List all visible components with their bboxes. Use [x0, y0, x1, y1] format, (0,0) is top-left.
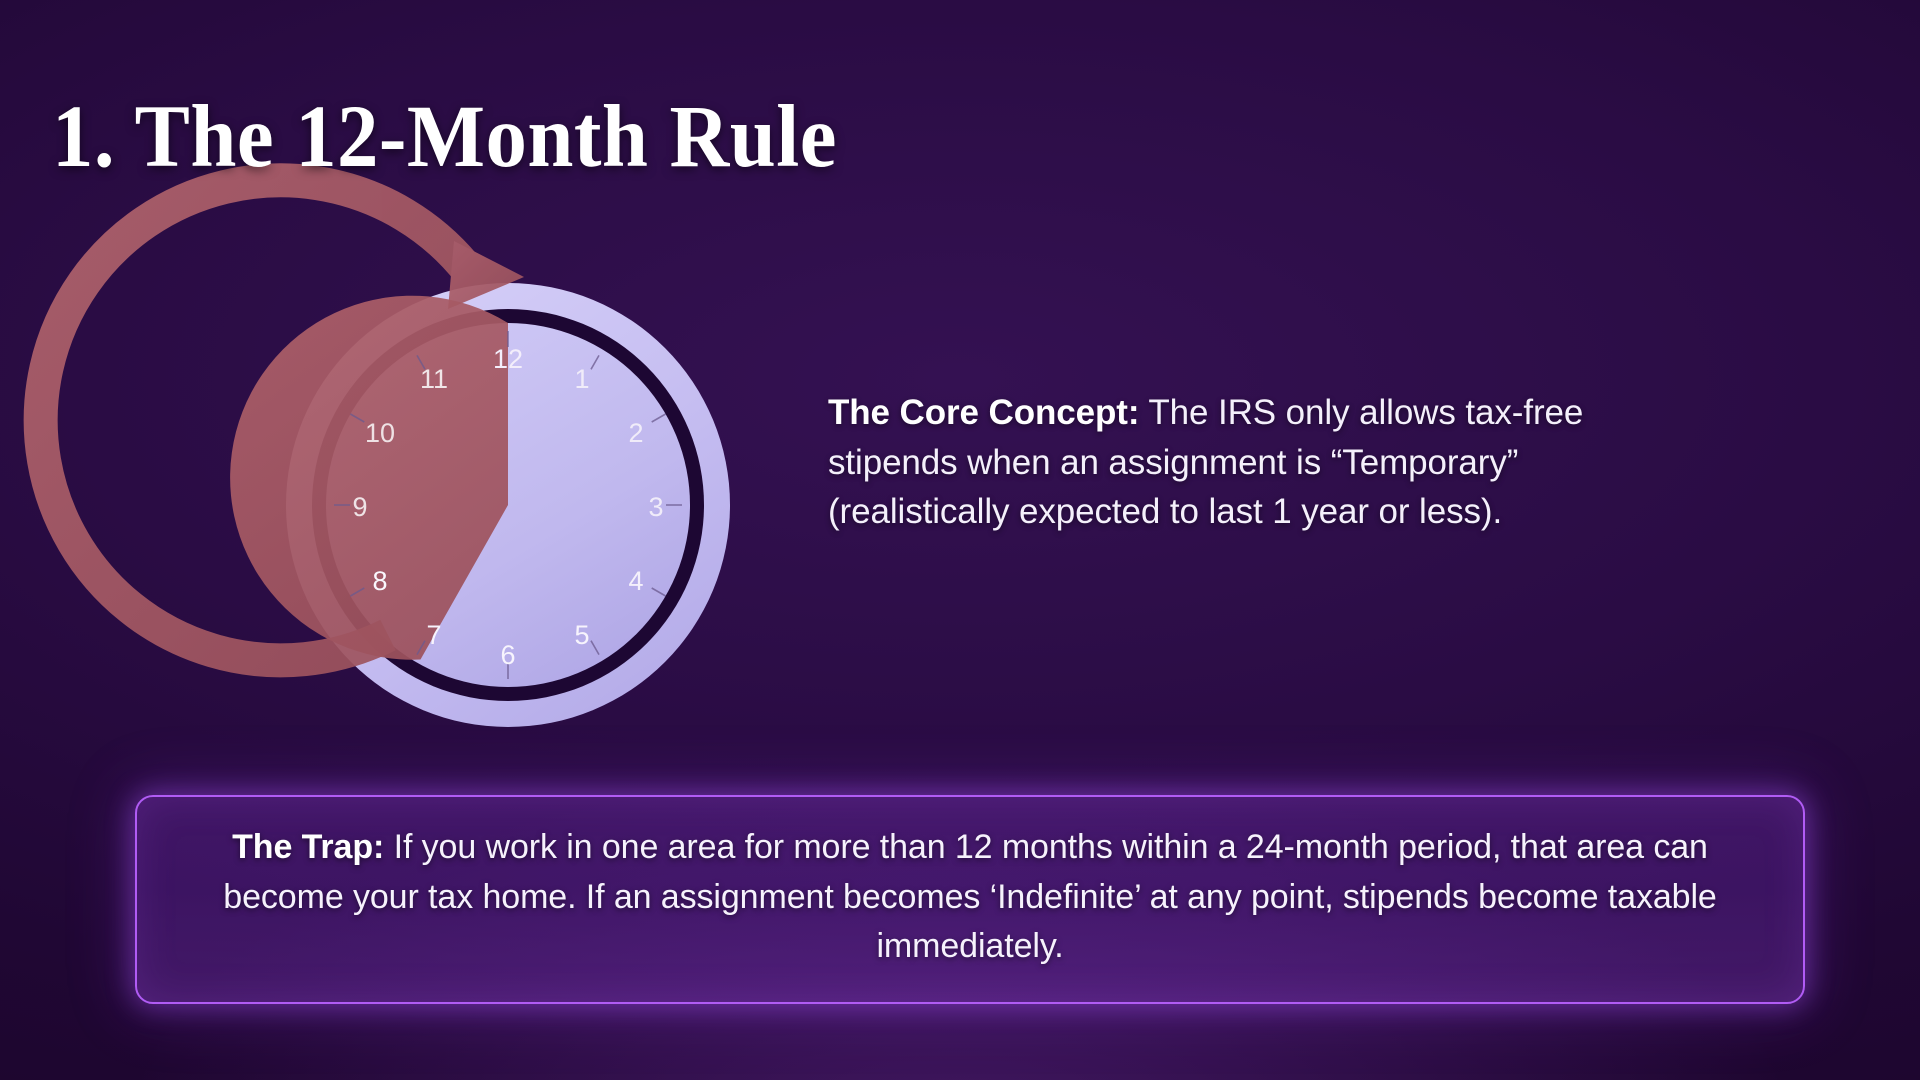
- clock-numeral-7: 7: [426, 620, 441, 650]
- clock-numeral-10: 10: [365, 418, 395, 448]
- clock-numeral-12: 12: [493, 344, 523, 374]
- clock-numeral-5: 5: [574, 620, 589, 650]
- core-concept-label: The Core Concept:: [828, 393, 1139, 432]
- core-concept-text: The Core Concept: The IRS only allows ta…: [828, 388, 1688, 537]
- clock-numeral-8: 8: [372, 566, 387, 596]
- twelve-month-clock-graphic: 12 1 2 3 4 5 6 7 8 9 10 11: [258, 255, 758, 755]
- trap-body: If you work in one area for more than 12…: [223, 828, 1716, 965]
- clock-numeral-11: 11: [420, 364, 448, 394]
- clock-numeral-2: 2: [628, 418, 643, 448]
- page-title: 1. The 12-Month Rule: [52, 86, 837, 188]
- trap-callout-box: The Trap: If you work in one area for mo…: [135, 795, 1805, 1004]
- clock-numeral-1: 1: [574, 364, 589, 394]
- clock-svg: 12 1 2 3 4 5 6 7 8 9 10 11: [258, 255, 758, 755]
- clock-numeral-6: 6: [500, 640, 515, 670]
- clock-numeral-4: 4: [628, 566, 643, 596]
- clock-numeral-3: 3: [648, 492, 663, 522]
- trap-callout-text: The Trap: If you work in one area for mo…: [185, 823, 1755, 972]
- slide-root: 1. The 12-Month Rule: [0, 0, 1920, 1080]
- clock-numeral-9: 9: [352, 492, 367, 522]
- trap-label: The Trap:: [232, 828, 384, 866]
